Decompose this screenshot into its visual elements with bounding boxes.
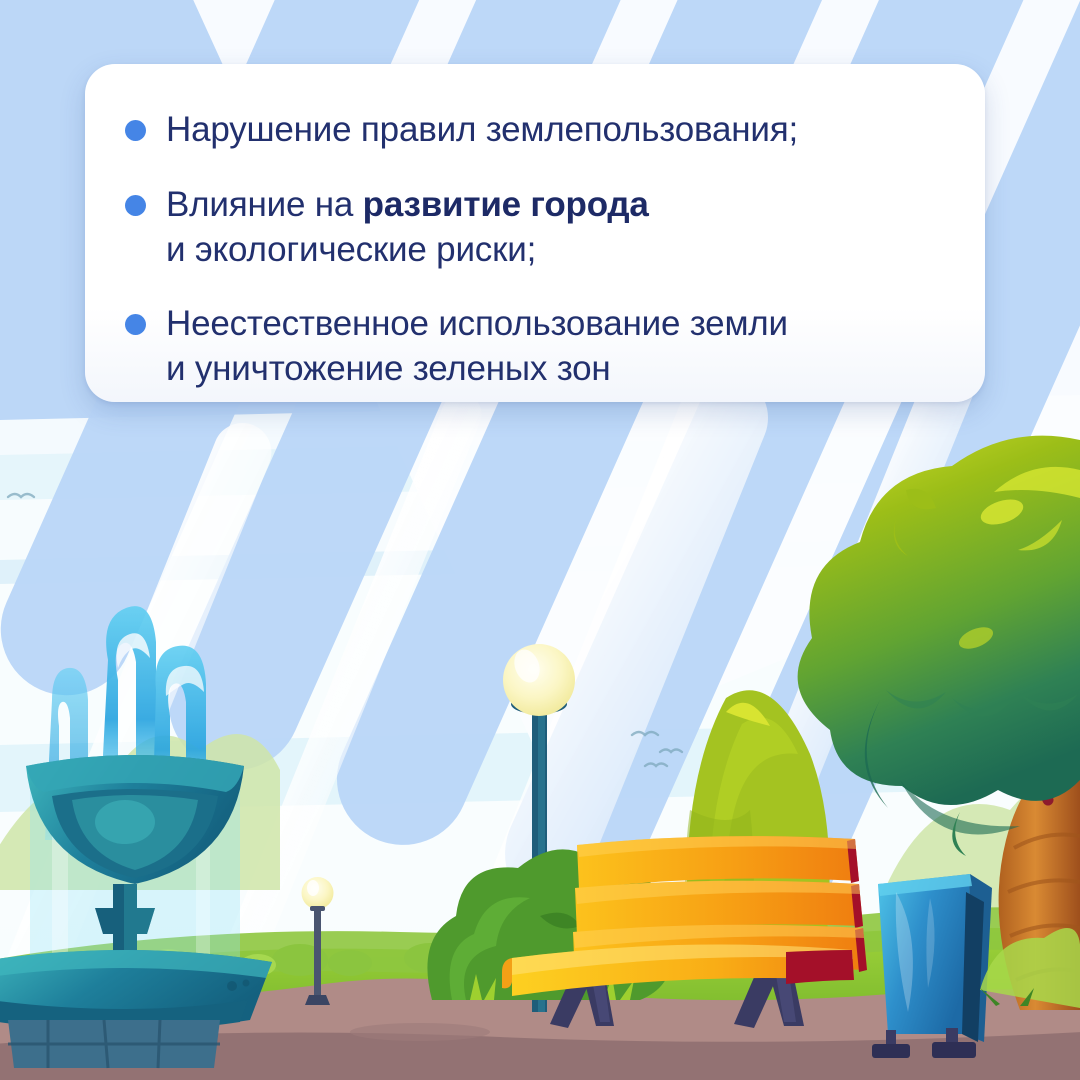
bullet-list: Нарушение правил землепользования; Влиян… (125, 108, 945, 392)
bullet-dot-icon (125, 120, 146, 141)
bullet-text-2-tail: и экологические риски; (166, 230, 536, 269)
bullet-text-3: Неестественное использование земли и уни… (166, 302, 788, 392)
info-card: Нарушение правил землепользования; Влиян… (85, 64, 985, 402)
bullet-dot-icon (125, 314, 146, 335)
bullet-text-1: Нарушение правил землепользования; (166, 108, 798, 153)
bullet-dot-icon (125, 195, 146, 216)
bullet-text-2-emphasis: развитие города (363, 185, 649, 224)
bullet-text-2: Влияние на развитие города и экологическ… (166, 183, 649, 273)
trash-bin (872, 874, 992, 1058)
poster-canvas: Нарушение правил землепользования; Влиян… (0, 0, 1080, 1080)
list-item: Нарушение правил землепользования; (125, 108, 945, 153)
lamp-globe (503, 644, 575, 716)
list-item: Неестественное использование земли и уни… (125, 302, 945, 392)
list-item: Влияние на развитие города и экологическ… (125, 183, 945, 273)
bullet-text-2-lead: Влияние на (166, 185, 363, 224)
